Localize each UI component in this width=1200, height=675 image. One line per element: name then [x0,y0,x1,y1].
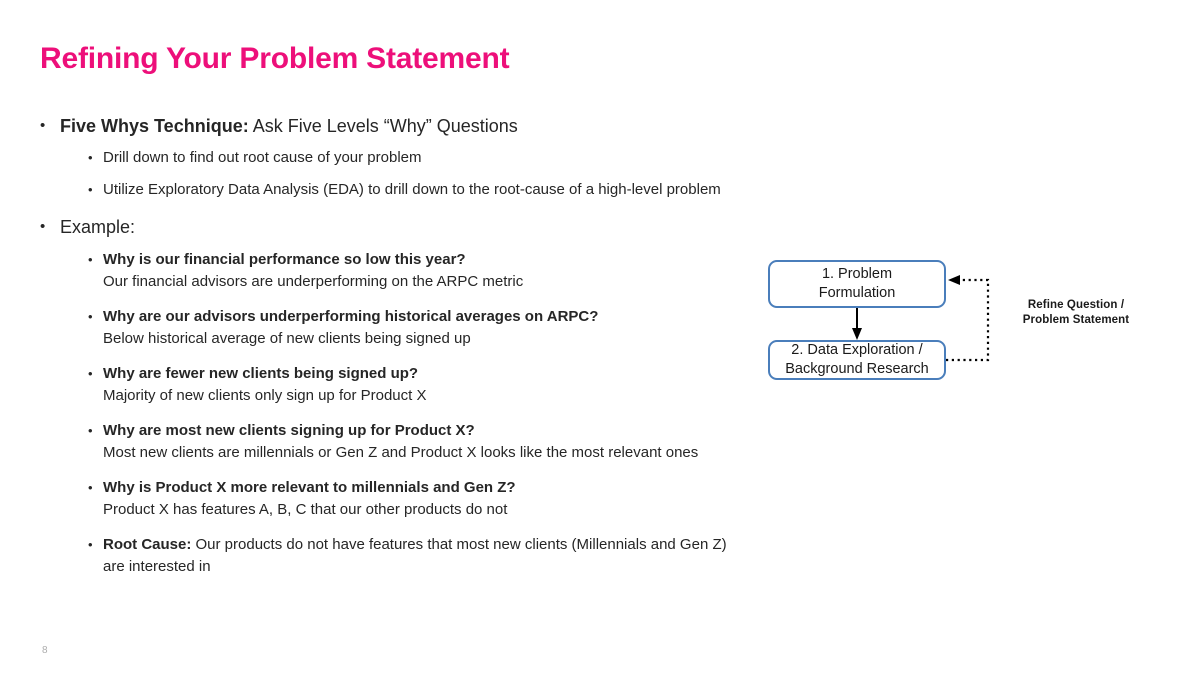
solid-arrow-head [852,328,862,340]
bullet-five-whys-text: Five Whys Technique: Ask Five Levels “Wh… [60,112,740,140]
bullet-example: • Example: [40,213,740,241]
why-item: Why are most new clients signing up for … [103,420,740,464]
feedback-label-line2: Problem Statement [1023,314,1130,326]
why-answer: Product X has features A, B, C that our … [103,499,740,521]
why-item: Why are fewer new clients being signed u… [103,363,740,407]
root-cause-rest: Our products do not have features that m… [103,536,727,575]
why-question: Why are our advisors underperforming his… [103,306,740,328]
why-answer: Below historical average of new clients … [103,328,740,350]
why-question: Why is Product X more relevant to millen… [103,477,740,499]
bullet-marker: • [40,112,60,140]
bullet-example-label: Example: [60,213,740,241]
diagram-box-data-exploration-label: 2. Data Exploration / Background Researc… [785,341,928,379]
bullet-marker: • [88,363,103,385]
box1-line1: 1. Problem [822,266,892,282]
why-answer: Most new clients are millennials or Gen … [103,442,740,464]
why-item: Why is Product X more relevant to millen… [103,477,740,521]
list-item: • Why are fewer new clients being signed… [88,363,740,407]
diagram-box-problem-formulation[interactable]: 1. Problem Formulation [768,260,946,308]
bullet-marker: • [88,420,103,442]
diagram-box-data-exploration[interactable]: 2. Data Exploration / Background Researc… [768,340,946,380]
bullet-five-whys: • Five Whys Technique: Ask Five Levels “… [40,112,740,140]
why-question: Why is our financial performance so low … [103,249,740,271]
why-question: Why are fewer new clients being signed u… [103,363,740,385]
bullet-marker: • [88,249,103,271]
bullet-marker: • [88,306,103,328]
page-number: 8 [42,645,48,656]
sub-bullet-text: Utilize Exploratory Data Analysis (EDA) … [103,178,740,201]
why-answer: Our financial advisors are underperformi… [103,271,740,293]
list-item: • Utilize Exploratory Data Analysis (EDA… [88,178,740,201]
list-item: • Why is our financial performance so lo… [88,249,740,293]
list-item: • Why are our advisors underperforming h… [88,306,740,350]
diagram-box-problem-formulation-label: 1. Problem Formulation [819,265,896,303]
dotted-feedback-path [946,280,988,360]
bullet-five-whys-rest: Ask Five Levels “Why” Questions [249,116,518,136]
bullet-marker: • [88,534,103,556]
root-cause-text: Root Cause: Our products do not have fea… [103,534,740,578]
box2-line1: 2. Data Exploration / [791,342,922,358]
page-title: Refining Your Problem Statement [40,42,509,76]
feedback-label-line1: Refine Question / [1028,299,1124,311]
dotted-arrow-head [948,275,960,285]
why-answer: Majority of new clients only sign up for… [103,385,740,407]
feedback-loop-label: Refine Question / Problem Statement [996,298,1156,328]
bullet-list: • Five Whys Technique: Ask Five Levels “… [40,112,740,591]
bullet-marker: • [88,146,103,169]
why-item: Why is our financial performance so low … [103,249,740,293]
box1-line2: Formulation [819,285,896,301]
box2-line2: Background Research [785,361,928,377]
root-cause-lead: Root Cause: [103,536,191,553]
bullet-five-whys-lead: Five Whys Technique: [60,116,249,136]
list-item: • Why are most new clients signing up fo… [88,420,740,464]
list-item: • Drill down to find out root cause of y… [88,146,740,169]
slide-canvas: Refining Your Problem Statement • Five W… [0,0,1200,675]
root-cause-item: • Root Cause: Our products do not have f… [88,534,740,578]
bullet-marker: • [88,477,103,499]
why-question: Why are most new clients signing up for … [103,420,740,442]
bullet-marker: • [88,178,103,201]
bullet-marker: • [40,213,60,241]
process-flow-diagram: 1. Problem Formulation 2. Data Explorati… [760,248,1170,393]
list-item: • Why is Product X more relevant to mill… [88,477,740,521]
sub-bullet-text: Drill down to find out root cause of you… [103,146,740,169]
why-item: Why are our advisors underperforming his… [103,306,740,350]
